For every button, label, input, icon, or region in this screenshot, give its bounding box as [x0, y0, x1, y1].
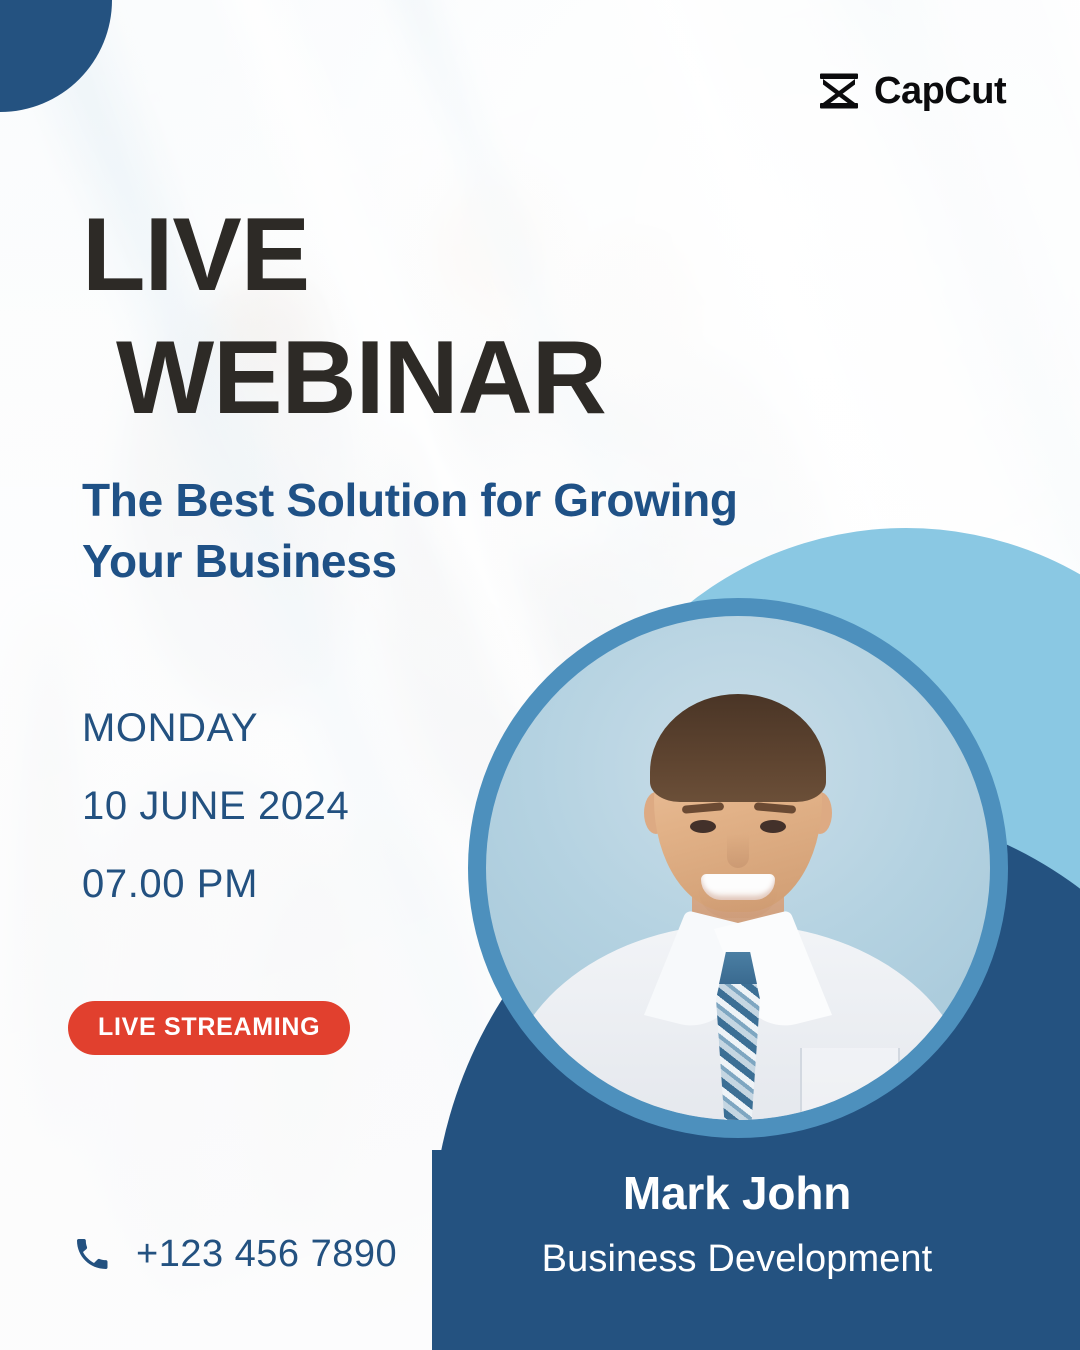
live-streaming-badge[interactable]: LIVE STREAMING: [68, 1001, 350, 1055]
event-datetime: MONDAY 10 JUNE 2024 07.00 PM: [82, 708, 349, 904]
phone-number: +123 456 7890: [136, 1235, 397, 1273]
webinar-poster: CapCut LIVE WEBINAR The Best Solution fo…: [0, 0, 1080, 1350]
contact-phone[interactable]: +123 456 7890: [72, 1234, 397, 1274]
event-date: 10 JUNE 2024: [82, 786, 349, 826]
speaker-role: Business Development: [437, 1239, 1037, 1281]
speaker-name: Mark John: [437, 1168, 1037, 1219]
portrait-eye-left: [690, 820, 716, 833]
event-day: MONDAY: [82, 708, 349, 748]
portrait-shirt-pocket: [800, 1048, 900, 1120]
speaker-photo-ring: [468, 598, 1008, 1138]
capcut-logo[interactable]: CapCut: [818, 72, 1006, 110]
event-time: 07.00 PM: [82, 864, 349, 904]
speaker-caption: Mark John Business Development: [437, 1168, 1037, 1280]
portrait-nose: [727, 834, 749, 868]
subtitle-line-2: Your Business: [82, 531, 852, 592]
page-title: LIVE WEBINAR: [82, 194, 782, 439]
speaker-photo: [486, 616, 990, 1120]
phone-icon: [72, 1234, 112, 1274]
capcut-bowtie-icon: [818, 72, 860, 110]
title-line-2: WEBINAR: [116, 317, 782, 440]
capcut-logo-text: CapCut: [874, 72, 1006, 110]
portrait-hair: [650, 694, 826, 802]
page-subtitle: The Best Solution for Growing Your Busin…: [82, 470, 852, 592]
subtitle-line-1: The Best Solution for Growing: [82, 470, 852, 531]
title-line-1: LIVE: [82, 197, 309, 313]
portrait-eye-right: [760, 820, 786, 833]
